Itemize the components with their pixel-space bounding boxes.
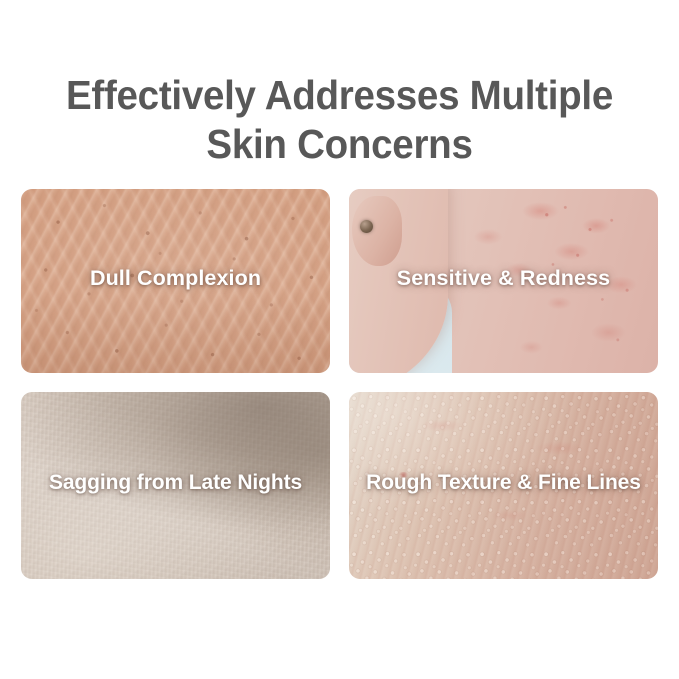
card-label-rough-texture-fine-lines: Rough Texture & Fine Lines bbox=[349, 392, 658, 579]
concern-card-grid: Dull Complexion Sensitive & Redness Sagg… bbox=[21, 189, 658, 579]
concern-card-sagging-late-nights[interactable]: Sagging from Late Nights bbox=[21, 392, 330, 579]
skin-concerns-poster: Effectively Addresses Multiple Skin Conc… bbox=[0, 0, 679, 679]
card-label-dull-complexion: Dull Complexion bbox=[21, 189, 330, 373]
page-title: Effectively Addresses Multiple Skin Conc… bbox=[20, 71, 658, 169]
card-label-sensitive-redness: Sensitive & Redness bbox=[349, 189, 658, 373]
concern-card-rough-texture-fine-lines[interactable]: Rough Texture & Fine Lines bbox=[349, 392, 658, 579]
card-label-sagging-late-nights: Sagging from Late Nights bbox=[21, 392, 330, 579]
concern-card-dull-complexion[interactable]: Dull Complexion bbox=[21, 189, 330, 373]
concern-card-sensitive-redness[interactable]: Sensitive & Redness bbox=[349, 189, 658, 373]
